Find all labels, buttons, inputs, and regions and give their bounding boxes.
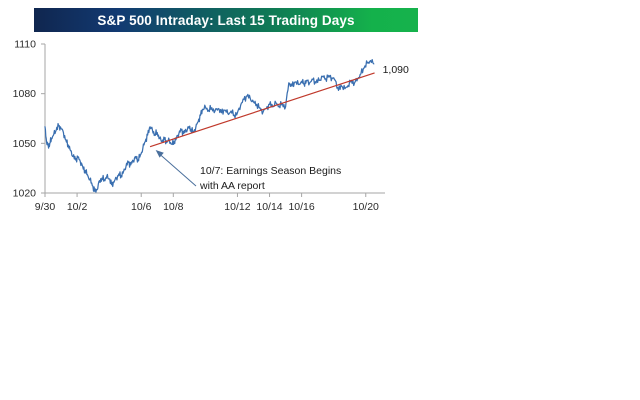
line-chart: 1020105010801110 9/3010/210/610/810/1210… [0, 34, 440, 219]
x-tick-label: 10/14 [256, 201, 282, 213]
y-tick-label: 1050 [13, 138, 37, 150]
y-tick-label: 1020 [13, 188, 37, 200]
page-title: S&P 500 Intraday: Last 15 Trading Days [97, 13, 354, 28]
callout-text-line2: with AA report [199, 180, 265, 192]
chart-plot-area: 1020105010801110 9/3010/210/610/810/1210… [0, 34, 440, 219]
y-tick-label: 1110 [14, 39, 36, 51]
trend-line [150, 73, 375, 147]
x-tick-label: 10/12 [224, 201, 250, 213]
y-axis-ticks: 1020105010801110 [13, 39, 45, 200]
chart-screenshot: S&P 500 Intraday: Last 15 Trading Days 1… [0, 0, 640, 400]
x-tick-label: 10/20 [353, 201, 379, 213]
x-tick-label: 10/2 [67, 201, 88, 213]
callout-text-line1: 10/7: Earnings Season Begins [200, 165, 341, 177]
end-value-label: 1,090 [383, 64, 409, 76]
x-axis-ticks: 9/3010/210/610/810/1210/1410/1610/20 [35, 193, 379, 213]
chart-title-banner: S&P 500 Intraday: Last 15 Trading Days [34, 8, 418, 32]
x-tick-label: 9/30 [35, 201, 56, 213]
x-tick-label: 10/16 [288, 201, 314, 213]
x-tick-label: 10/6 [131, 201, 152, 213]
x-tick-label: 10/8 [163, 201, 184, 213]
y-tick-label: 1080 [13, 88, 37, 100]
callout-leader-arrow [156, 150, 196, 186]
